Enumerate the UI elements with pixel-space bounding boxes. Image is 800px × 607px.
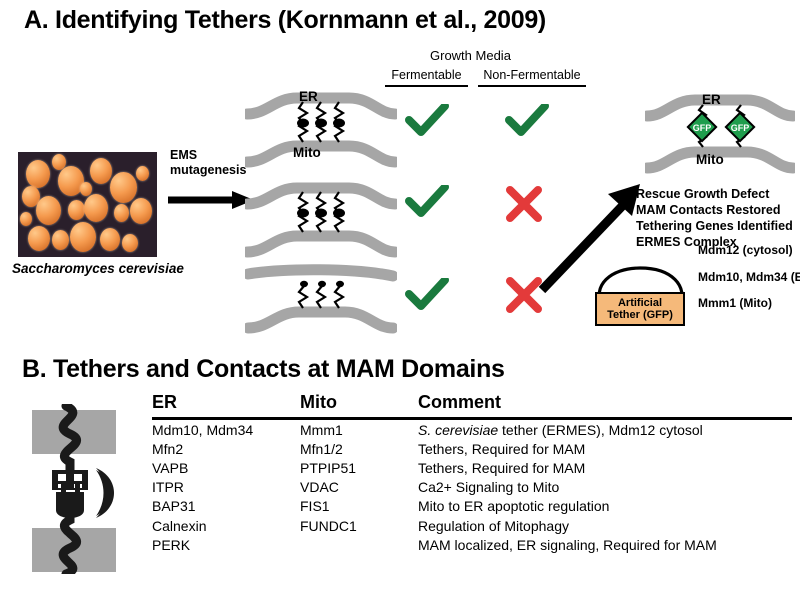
ems-arrow-icon [168, 189, 254, 211]
ems-mutagenesis-label: EMS mutagenesis [170, 148, 246, 178]
ermes-component: Mdm12 (cytosol) [698, 243, 793, 257]
cell-comment-rest: tether (ERMES), Mdm12 cytosol [498, 422, 703, 438]
mam-tethers-table: ER Mito Comment Mdm10, Mdm34 Mmm1 S. cer… [152, 392, 792, 555]
artificial-tether-line-1: Artificial [618, 297, 662, 309]
panel-b-title: B. Tethers and Contacts at MAM Domains [22, 355, 505, 384]
result-item: MAM Contacts Restored [636, 202, 793, 218]
check-icon-row3-fermentable [405, 278, 449, 312]
cell-er: Mdm10, Mdm34 [152, 419, 300, 440]
table-row: Mdm10, Mdm34 Mmm1 S. cerevisiae tether (… [152, 419, 792, 440]
cell-comment: Mito to ER apoptotic regulation [418, 497, 792, 516]
cell-comment: Tethers, Required for MAM [418, 439, 792, 458]
check-icon-row2-fermentable [405, 185, 449, 219]
cell-er: Calnexin [152, 516, 300, 535]
artificial-tether-line-2: Tether (GFP) [607, 309, 673, 321]
er-label-gfp: ER [702, 92, 721, 107]
table-row: Mfn2 Mfn1/2 Tethers, Required for MAM [152, 439, 792, 458]
mito-label-gfp: Mito [696, 152, 724, 167]
table-header-row: ER Mito Comment [152, 392, 792, 419]
cell-comment-italic: S. cerevisiae [418, 422, 498, 438]
column-header-fermentable: Fermentable [385, 68, 468, 87]
cell-er: Mfn2 [152, 439, 300, 458]
table-row: ITPR VDAC Ca2+ Signaling to Mito [152, 478, 792, 497]
cell-mito: FIS1 [300, 497, 418, 516]
svg-text:GFP: GFP [693, 123, 712, 133]
figure-canvas: A. Identifying Tethers (Kornmann et al.,… [0, 0, 800, 607]
cell-comment: MAM localized, ER signaling, Required fo… [418, 535, 792, 554]
membrane-diagram-row-3 [245, 262, 397, 338]
cell-comment: Ca2+ Signaling to Mito [418, 478, 792, 497]
organism-caption: Saccharomyces cerevisiae [12, 261, 184, 276]
cell-mito: VDAC [300, 478, 418, 497]
er-label-row-1: ER [299, 89, 318, 104]
cell-er: ITPR [152, 478, 300, 497]
ems-line-2: mutagenesis [170, 163, 246, 178]
table-row: PERK MAM localized, ER signaling, Requir… [152, 535, 792, 554]
cell-comment: Tethers, Required for MAM [418, 458, 792, 477]
yeast-micrograph [18, 152, 157, 257]
membrane-diagram-row-2 [245, 178, 397, 264]
column-header-comment: Comment [418, 392, 792, 419]
table-row: VAPB PTPIP51 Tethers, Required for MAM [152, 458, 792, 477]
cell-mito [300, 535, 418, 554]
cell-comment: S. cerevisiae tether (ERMES), Mdm12 cyto… [418, 419, 792, 440]
column-header-er: ER [152, 392, 300, 419]
artificial-tether-box: Artificial Tether (GFP) [595, 292, 685, 326]
cell-mito: FUNDC1 [300, 516, 418, 535]
panel-a-title: A. Identifying Tethers (Kornmann et al.,… [24, 6, 546, 35]
column-header-mito: Mito [300, 392, 418, 419]
cell-mito: Mmm1 [300, 419, 418, 440]
mito-label-row-1: Mito [293, 145, 321, 160]
growth-media-label: Growth Media [430, 48, 511, 63]
column-header-non-fermentable: Non-Fermentable [478, 68, 586, 87]
membrane-diagram-row-1 [245, 88, 397, 174]
cell-comment: Regulation of Mitophagy [418, 516, 792, 535]
result-item: Rescue Growth Defect [636, 186, 793, 202]
results-list: Rescue Growth Defect MAM Contacts Restor… [636, 186, 793, 250]
cell-er: VAPB [152, 458, 300, 477]
rescue-arrow-icon [536, 178, 646, 296]
ems-line-1: EMS [170, 148, 246, 163]
cell-er: BAP31 [152, 497, 300, 516]
tether-plug-icon [18, 404, 130, 574]
cell-mito: PTPIP51 [300, 458, 418, 477]
check-icon-row1-fermentable [405, 104, 449, 138]
check-icon-row1-nonfermentable [505, 104, 549, 138]
table-row: BAP31 FIS1 Mito to ER apoptotic regulati… [152, 497, 792, 516]
cell-mito: Mfn1/2 [300, 439, 418, 458]
ermes-component: Mdm10, Mdm34 (ER) [698, 270, 800, 284]
result-item: Tethering Genes Identified [636, 218, 793, 234]
cell-er: PERK [152, 535, 300, 554]
ermes-component: Mmm1 (Mito) [698, 296, 772, 310]
svg-text:GFP: GFP [731, 123, 750, 133]
table-row: Calnexin FUNDC1 Regulation of Mitophagy [152, 516, 792, 535]
